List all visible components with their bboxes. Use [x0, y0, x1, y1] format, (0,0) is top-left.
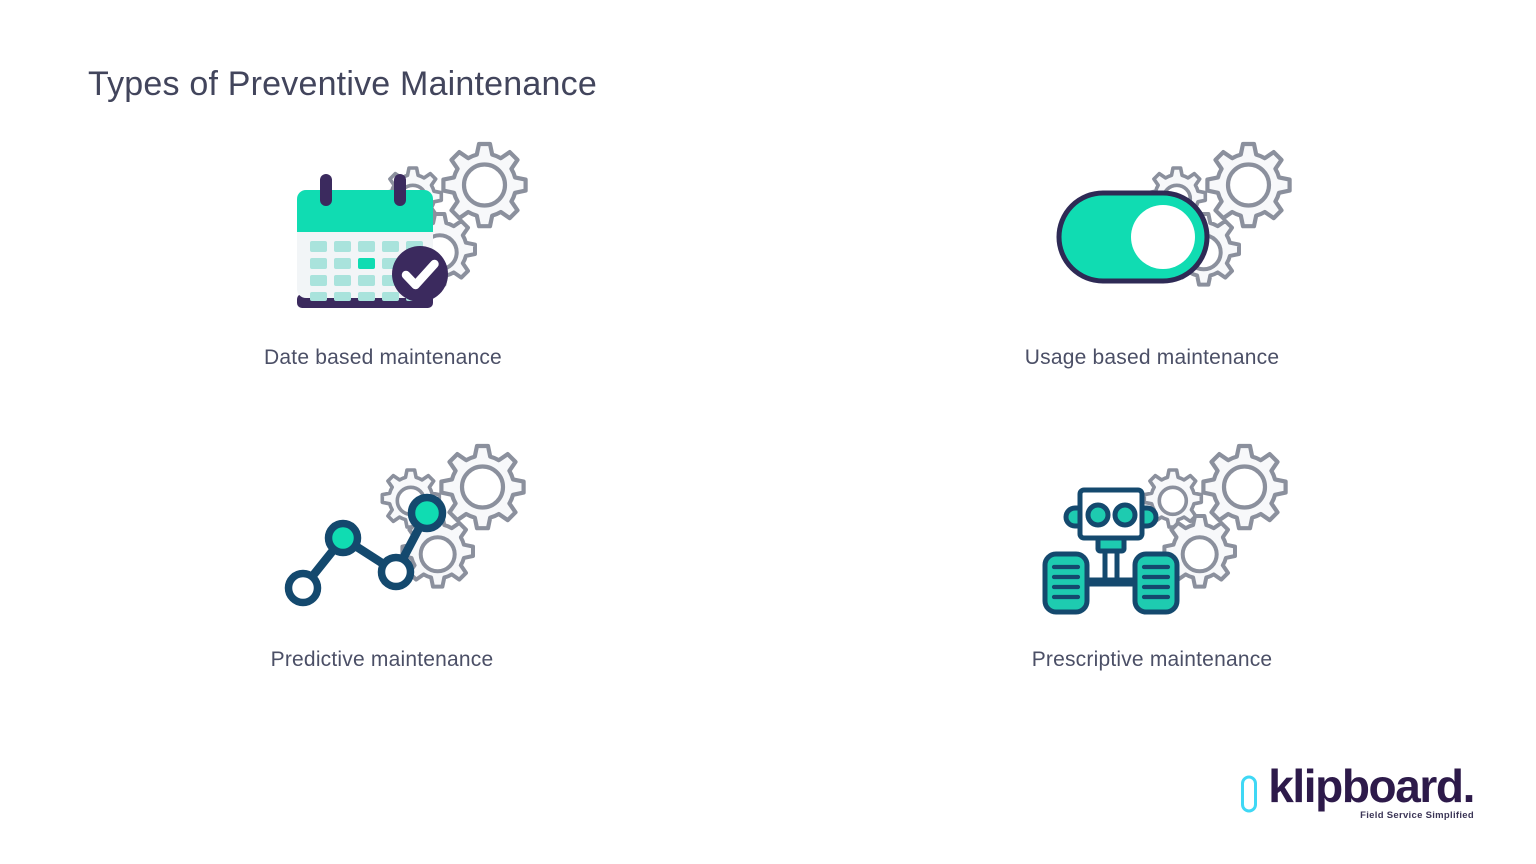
- page-title: Types of Preventive Maintenance: [88, 63, 597, 106]
- gear-icon-large: [1207, 144, 1289, 226]
- toggle-switch-icon: [1032, 130, 1332, 330]
- calendar-header: [297, 190, 433, 232]
- toggle-knob: [1131, 205, 1195, 269]
- card-usage-based: Usage based maintenance: [768, 130, 1536, 430]
- robot-icon: [1028, 432, 1328, 632]
- calendar-ring-right: [394, 174, 406, 206]
- card-label-date-based: Date based maintenance: [264, 346, 502, 370]
- check-badge-icon: [392, 246, 448, 302]
- card-label-predictive: Predictive maintenance: [271, 648, 494, 672]
- calendar-icon: [268, 130, 568, 330]
- chart-node-4: [412, 498, 443, 529]
- paperclip-icon: [1238, 773, 1260, 822]
- logo-text: klipboard. Field Service Simplified: [1268, 763, 1474, 821]
- logo-wordmark: klipboard.: [1268, 763, 1474, 809]
- chart-node-1: [289, 574, 318, 603]
- brand-logo: klipboard. Field Service Simplified: [1238, 763, 1474, 822]
- robot-eye-right: [1115, 505, 1135, 525]
- calendar-ring-left: [320, 174, 332, 206]
- trend-line-chart-icon: [266, 432, 566, 632]
- robot-eye-left: [1088, 505, 1108, 525]
- logo-tagline: Field Service Simplified: [1360, 811, 1474, 821]
- chart-node-2: [329, 524, 358, 553]
- card-date-based: Date based maintenance: [0, 130, 768, 430]
- gear-icon-large: [443, 144, 525, 226]
- gear-icon-large: [1203, 446, 1285, 528]
- chart-node-3: [382, 558, 411, 587]
- robot-wheel-right: [1135, 554, 1177, 612]
- gear-icon-large: [441, 446, 523, 528]
- slide: Types of Preventive Maintenance: [0, 0, 1536, 864]
- card-prescriptive: Prescriptive maintenance: [768, 430, 1536, 730]
- card-label-prescriptive: Prescriptive maintenance: [1032, 648, 1273, 672]
- calendar-cell-highlighted: [358, 258, 375, 269]
- card-predictive: Predictive maintenance: [0, 430, 768, 730]
- robot-wheel-left: [1045, 554, 1087, 612]
- robot-neck: [1098, 538, 1124, 551]
- maintenance-types-grid: Date based maintenance: [0, 130, 1536, 730]
- card-label-usage-based: Usage based maintenance: [1025, 346, 1279, 370]
